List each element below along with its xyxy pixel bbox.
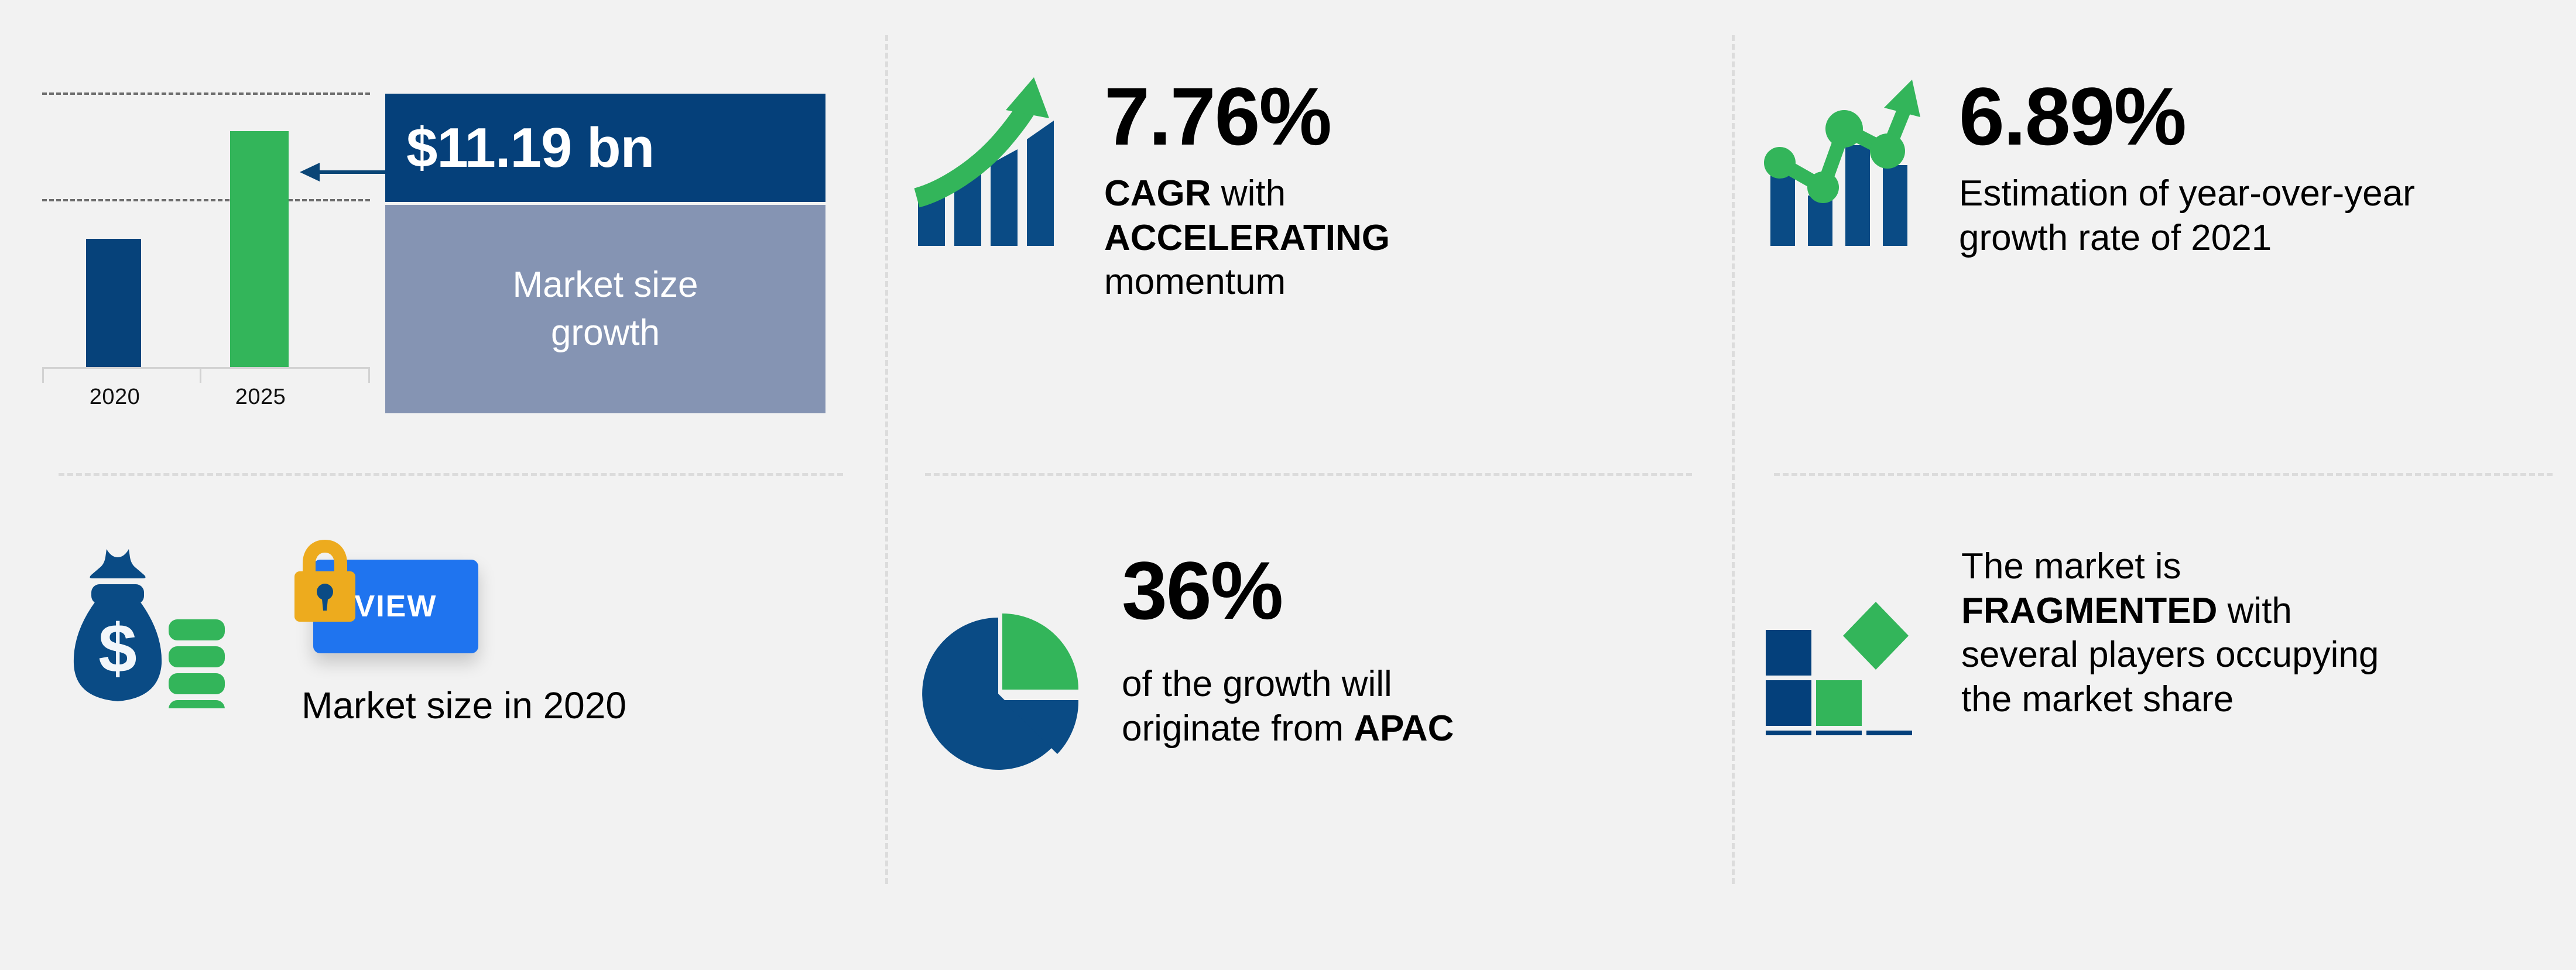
cagr-description: CAGR with ACCELERATING momentum	[1104, 172, 1561, 304]
market-size-bar-chart: 2020 2025	[35, 82, 381, 410]
market-size-caption: Market size growth	[479, 261, 731, 357]
money-bag-icon: $	[70, 544, 228, 711]
gridline-upper	[42, 92, 370, 95]
fragmentation-panel: The market is FRAGMENTED with several pl…	[1762, 544, 2570, 907]
growth-arrow-bar-chart-icon	[913, 76, 1066, 249]
cagr-panel: 7.76% CAGR with ACCELERATING momentum	[913, 76, 1721, 439]
apac-region: APAC	[1354, 708, 1454, 749]
cagr-with: with	[1211, 173, 1286, 214]
market-size-growth-panel: 2020 2025 $11.19 bn Market size growth	[0, 0, 855, 445]
cagr-term: CAGR	[1104, 173, 1211, 214]
x-axis-tick-mid	[200, 368, 201, 383]
frag-status: FRAGMENTED	[1961, 591, 2217, 631]
vertical-separator-1	[885, 35, 888, 884]
lock-icon	[290, 536, 360, 627]
apac-value: 36%	[1122, 550, 1496, 630]
x-axis-label-2020: 2020	[56, 385, 173, 410]
svg-text:$: $	[98, 610, 137, 687]
horizontal-separator-3	[1774, 473, 2553, 476]
cagr-accelerating: ACCELERATING	[1104, 218, 1390, 258]
fragmented-squares-icon	[1762, 589, 1926, 738]
yoy-growth-panel: 6.89% Estimation of year-over-year growt…	[1762, 76, 2570, 439]
market-size-value: $11.19 bn	[406, 120, 654, 176]
frag-lead: The market is	[1961, 546, 2181, 587]
yoy-description: Estimation of year-over-year growth rate…	[1959, 172, 2416, 260]
gridline-lower	[42, 199, 370, 201]
pie-chart-icon	[913, 609, 1083, 782]
apac-share-panel: 36% of the growth will originate from AP…	[913, 550, 1721, 913]
x-axis-label-2025: 2025	[202, 385, 319, 410]
line-bar-chart-icon	[1762, 76, 1920, 249]
view-button-label: VIEW	[355, 589, 437, 624]
bar-2020	[86, 239, 141, 368]
horizontal-separator-1	[59, 473, 843, 476]
x-axis-line	[42, 367, 370, 369]
bar-2025	[230, 131, 289, 368]
apac-description: of the growth will originate from APAC	[1122, 662, 1496, 750]
infographic-root: 2020 2025 $11.19 bn Market size growth	[0, 0, 2576, 970]
x-axis-tick-end	[368, 368, 370, 383]
vertical-separator-2	[1732, 35, 1735, 884]
x-axis-tick-start	[42, 368, 44, 383]
yoy-value: 6.89%	[1959, 76, 2416, 156]
market-size-2020-caption: Market size in 2020	[302, 684, 626, 727]
cagr-value: 7.76%	[1104, 76, 1561, 156]
view-button-group[interactable]: VIEW Market size in 2020	[290, 560, 626, 727]
fragmentation-description: The market is FRAGMENTED with several pl…	[1961, 544, 2406, 722]
apac-desc-lead: of the growth will originate from	[1122, 664, 1392, 749]
market-size-caption-box: Market size growth	[385, 205, 825, 413]
market-size-value-box: $11.19 bn	[385, 94, 825, 202]
cagr-momentum: momentum	[1104, 262, 1286, 302]
market-size-2020-panel: $ VIEW	[0, 544, 855, 919]
horizontal-separator-2	[925, 473, 1692, 476]
